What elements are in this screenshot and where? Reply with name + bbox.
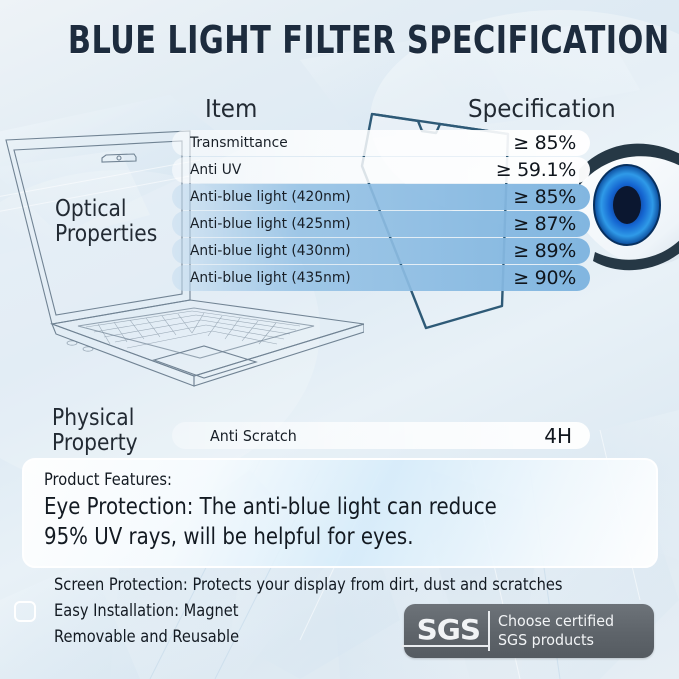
- row-item-label: Anti-blue light (435nm): [190, 270, 351, 286]
- product-features-panel: Product Features: Eye Protection: The an…: [22, 458, 658, 568]
- column-header-specification: Specification: [468, 94, 616, 123]
- row-spec-value: ≥ 89%: [513, 240, 576, 262]
- row-spec-value: ≥ 85%: [513, 186, 576, 208]
- table-row-physical: Anti Scratch 4H: [172, 422, 590, 449]
- row-item-label: Transmittance: [190, 135, 288, 151]
- sgs-tagline: Choose certified SGS products: [498, 612, 614, 650]
- sgs-badge: SGS Choose certified SGS products: [404, 604, 654, 658]
- features-body-line-2: 95% UV rays, will be helpful for eyes.: [44, 522, 570, 552]
- row-item-label: Anti-blue light (420nm): [190, 189, 351, 205]
- features-heading: Product Features:: [44, 468, 570, 492]
- table-row: Anti-blue light (435nm) ≥ 90%: [172, 265, 590, 291]
- table-row: Anti-blue light (425nm) ≥ 87%: [172, 211, 590, 237]
- checkbox-icon: [14, 601, 36, 622]
- row-item-label: Anti-blue light (425nm): [190, 216, 351, 232]
- group-label-physical-property: Physical Property: [52, 406, 138, 456]
- poster-root: BLUE LIGHT FILTER SPECIFICATION Item Spe…: [0, 0, 679, 679]
- bottom-line-removable-reusable: Removable and Reusable: [54, 627, 239, 647]
- sgs-logo-mark: SGS: [402, 615, 488, 647]
- row-item-label: Anti Scratch: [210, 427, 297, 445]
- row-spec-value: 4H: [544, 424, 572, 448]
- table-row: Anti-blue light (430nm) ≥ 89%: [172, 238, 590, 264]
- group-label-optical-properties: Optical Properties: [55, 197, 157, 247]
- eye-icon: [579, 128, 679, 280]
- row-spec-value: ≥ 87%: [513, 213, 576, 235]
- table-row: Transmittance ≥ 85%: [172, 130, 590, 156]
- features-body-line-1: Eye Protection: The anti-blue light can …: [44, 492, 570, 522]
- row-item-label: Anti-blue light (430nm): [190, 243, 351, 259]
- sgs-divider: [488, 611, 490, 651]
- bottom-line-easy-installation: Easy Installation: Magnet: [54, 601, 239, 621]
- column-header-item: Item: [205, 94, 257, 123]
- row-item-label: Anti UV: [190, 162, 241, 178]
- row-spec-value: ≥ 59.1%: [496, 159, 576, 181]
- table-row: Anti-blue light (420nm) ≥ 85%: [172, 184, 590, 210]
- bottom-line-screen-protection: Screen Protection: Protects your display…: [54, 575, 563, 595]
- table-row: Anti UV ≥ 59.1%: [172, 157, 590, 183]
- row-spec-value: ≥ 90%: [513, 267, 576, 289]
- row-spec-value: ≥ 85%: [513, 132, 576, 154]
- spec-table: Transmittance ≥ 85% Anti UV ≥ 59.1% Anti…: [172, 130, 590, 292]
- page-title: BLUE LIGHT FILTER SPECIFICATION: [68, 18, 611, 62]
